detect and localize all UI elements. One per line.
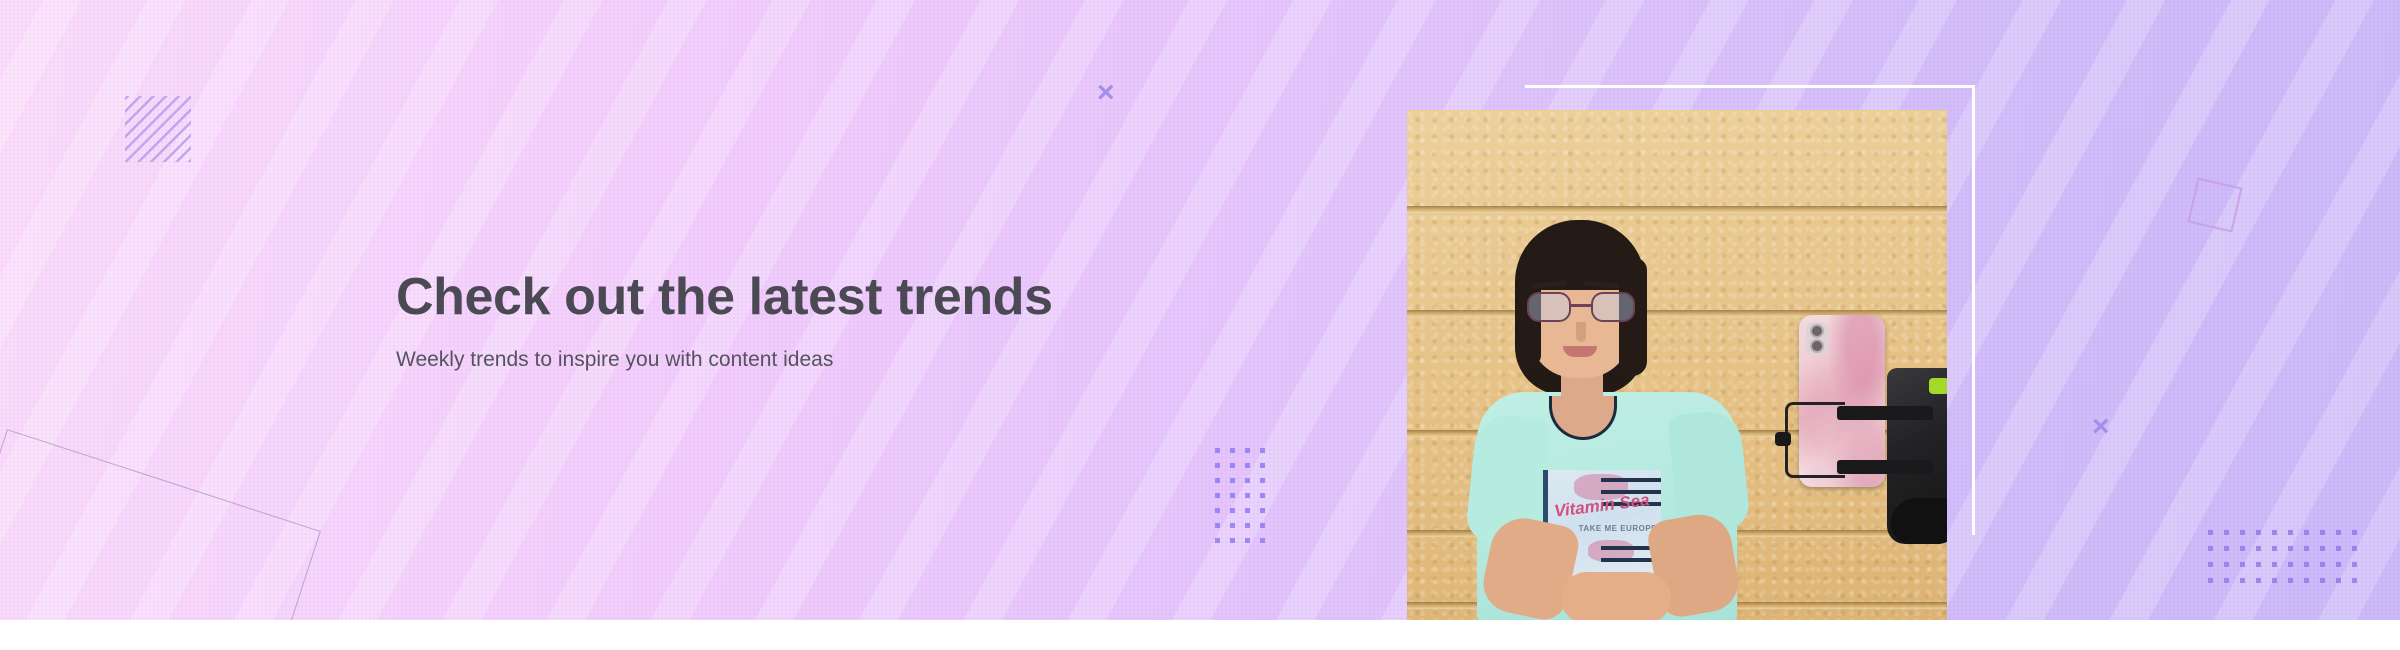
- hands: [1561, 572, 1671, 620]
- influencer-photo: Vitamin Sea TAKE ME EUROPE: [1407, 110, 1947, 620]
- tripod-accent: [1929, 378, 1947, 394]
- phone-tripod-mount: [1887, 368, 1947, 544]
- dot-grid-decoration: [1215, 448, 1275, 553]
- hatched-square-decoration: [125, 96, 191, 162]
- page-title: Check out the latest trends: [396, 268, 1276, 326]
- large-outline-square-decoration: [0, 429, 321, 620]
- glasses-lens: [1591, 292, 1635, 322]
- person-figure: Vitamin Sea TAKE ME EUROPE: [1477, 220, 1737, 620]
- hero-banner: × × Check out the latest trends Weekly t…: [0, 0, 2400, 620]
- hero-text-block: Check out the latest trends Weekly trend…: [396, 268, 1276, 372]
- camera-lens: [1810, 339, 1824, 353]
- phone-clamp-arm: [1837, 460, 1933, 474]
- tripod-foot: [1891, 498, 1947, 544]
- x-mark-icon: ×: [2092, 412, 2110, 442]
- graphic-stripe: [1601, 478, 1661, 482]
- phone-clamp-arm: [1837, 406, 1933, 420]
- glasses-bridge: [1571, 304, 1591, 307]
- phone-camera-module: [1806, 322, 1828, 356]
- camera-lens: [1810, 324, 1824, 338]
- x-mark-icon: ×: [1097, 78, 1115, 108]
- diamond-outline-decoration: [2187, 177, 2242, 232]
- phone-clamp-knob: [1775, 432, 1791, 446]
- graphic-script-text: Vitamin Sea: [1553, 490, 1650, 522]
- wall-seam: [1407, 206, 1947, 213]
- graphic-small-text: TAKE ME EUROPE: [1579, 524, 1657, 533]
- eyeglasses: [1527, 292, 1635, 322]
- phone-clamp-frame: [1785, 402, 1845, 478]
- page-subtitle: Weekly trends to inspire you with conten…: [396, 348, 1276, 372]
- nose: [1576, 322, 1586, 342]
- dot-grid-decoration: [2208, 530, 2368, 594]
- glasses-lens: [1527, 292, 1571, 322]
